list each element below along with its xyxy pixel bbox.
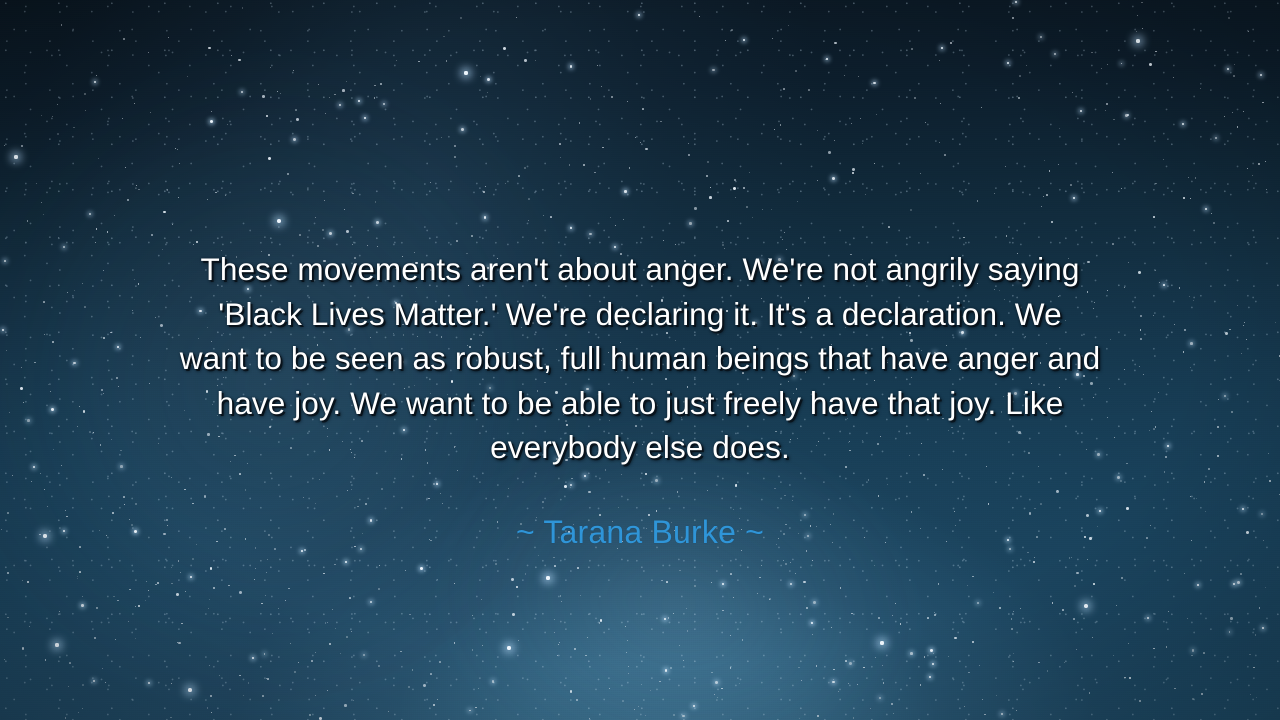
quote-author: ~ Tarana Burke ~ [516,470,764,550]
quote-text: These movements aren't about anger. We'r… [110,247,1170,470]
quote-card: These movements aren't about anger. We'r… [0,0,1280,720]
quote-content: These movements aren't about anger. We'r… [0,0,1280,720]
